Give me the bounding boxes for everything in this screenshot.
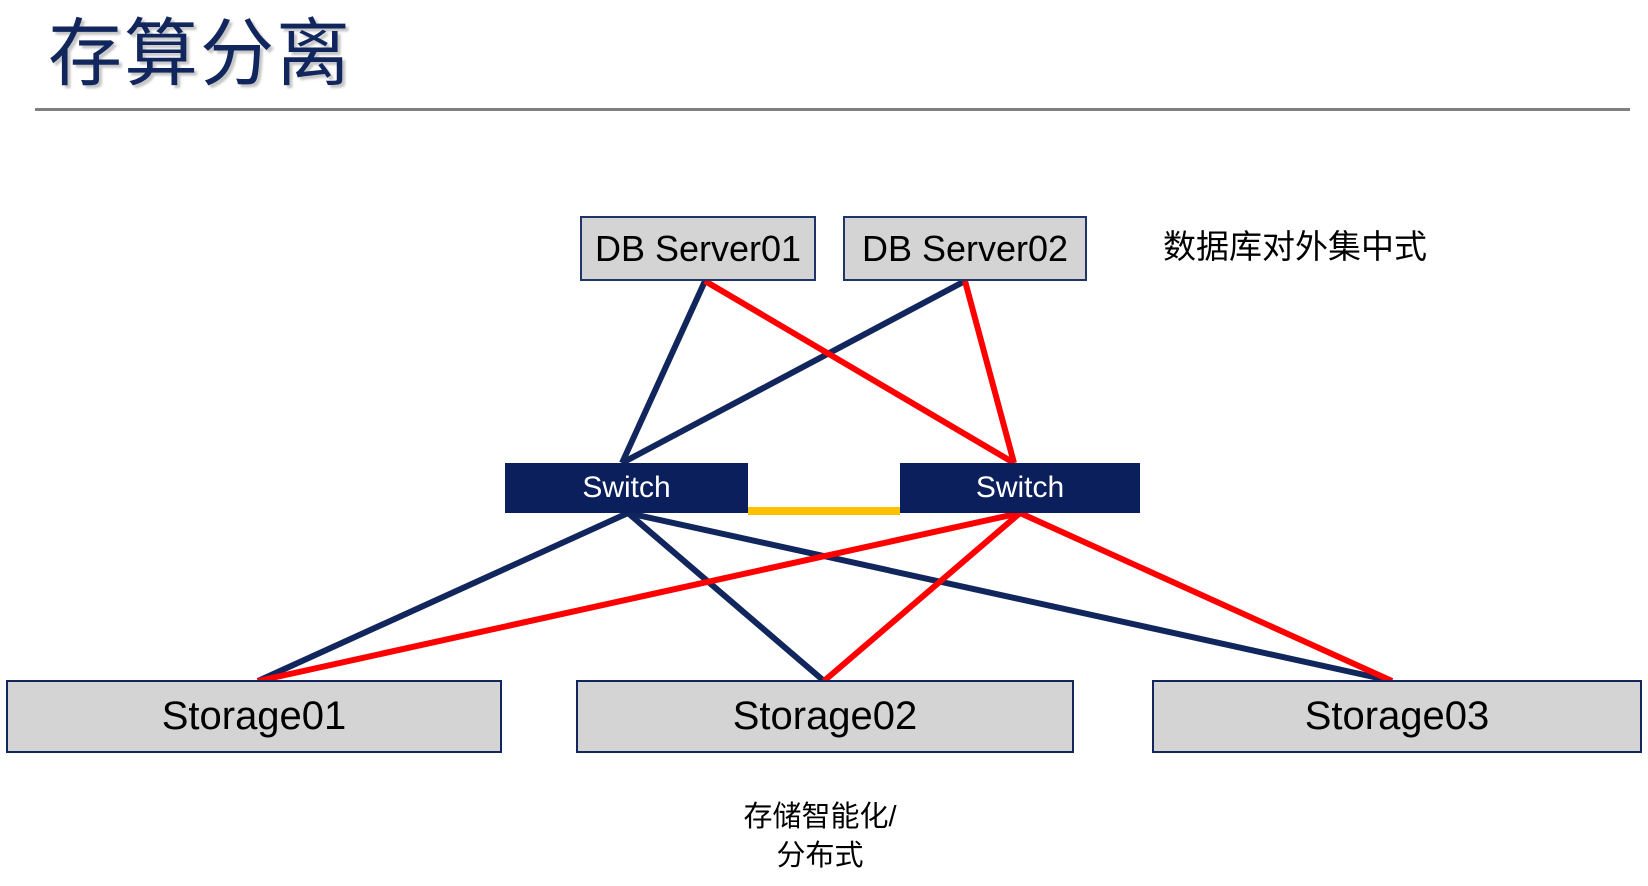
node-db-server-02[interactable]: DB Server02 (843, 216, 1087, 281)
node-switch-01-label: Switch (582, 471, 670, 505)
connection-layer (0, 0, 1648, 886)
link-switch-01-to-storage-03 (628, 513, 1392, 681)
link-db-server-01-to-switch-01 (622, 281, 705, 463)
annotation-database-centralized: 数据库对外集中式 (1163, 225, 1427, 269)
node-db-server-01-label: DB Server01 (595, 228, 801, 270)
link-switch-02-to-storage-01 (258, 513, 1020, 681)
node-switch-02[interactable]: Switch (900, 463, 1140, 513)
node-storage-03-label: Storage03 (1305, 694, 1490, 739)
node-storage-01[interactable]: Storage01 (6, 680, 502, 753)
node-storage-02-label: Storage02 (733, 694, 918, 739)
node-db-server-02-label: DB Server02 (862, 228, 1068, 270)
link-switch-01-to-storage-01 (258, 513, 628, 681)
link-switch-02-to-storage-03 (1020, 513, 1392, 681)
slide-canvas: 存算分离 DB Server01 DB Server02 Switch Swit… (0, 0, 1648, 886)
annotation-storage-intelligent: 存储智能化/ 分布式 (640, 798, 1000, 876)
node-db-server-01[interactable]: DB Server01 (580, 216, 816, 281)
link-db-server-01-to-switch-02 (705, 281, 1014, 463)
link-db-server-02-to-switch-01 (622, 281, 965, 463)
node-switch-02-label: Switch (976, 471, 1064, 505)
link-switch-01-to-storage-02 (628, 513, 824, 681)
node-storage-03[interactable]: Storage03 (1152, 680, 1642, 753)
link-switch-02-to-storage-02 (824, 513, 1020, 681)
node-storage-01-label: Storage01 (162, 694, 347, 739)
node-storage-02[interactable]: Storage02 (576, 680, 1074, 753)
node-switch-01[interactable]: Switch (505, 463, 748, 513)
